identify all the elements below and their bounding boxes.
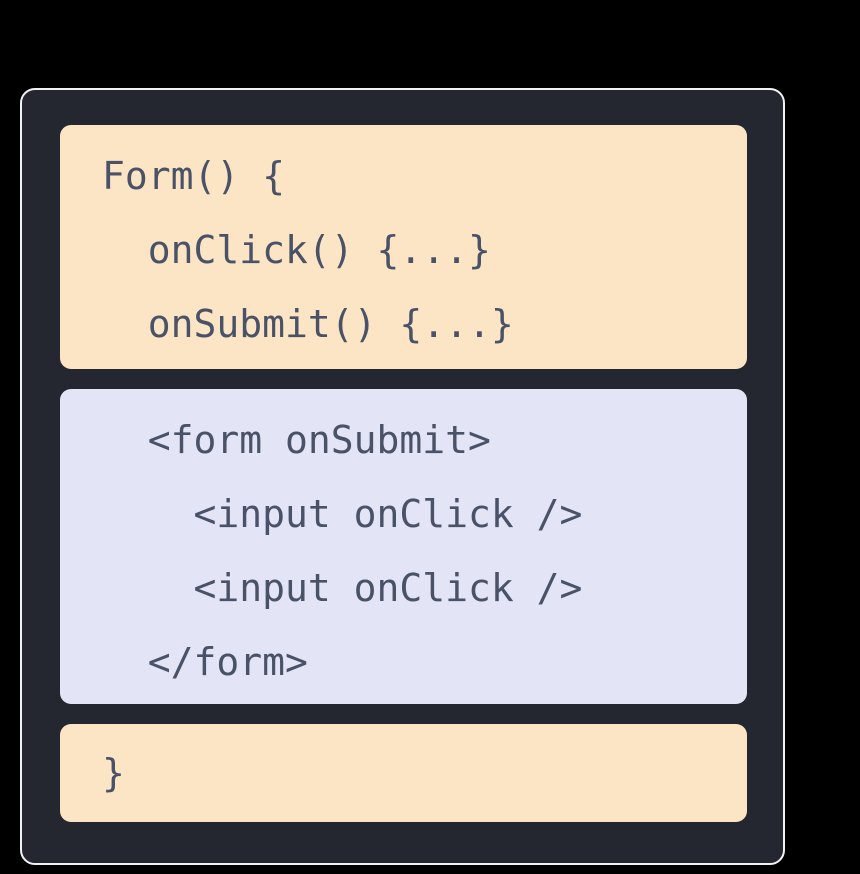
code-line: onSubmit() {...} [60, 287, 747, 361]
code-line: <input onClick /> [60, 477, 747, 551]
code-block-markup: <form onSubmit> <input onClick /> <input… [60, 389, 747, 704]
code-line: <input onClick /> [60, 551, 747, 625]
code-card: Form() { onClick() {...} onSubmit() {...… [20, 88, 785, 865]
code-lines-component-close: } [60, 724, 747, 810]
code-line: Form() { [60, 139, 747, 213]
code-line: onClick() {...} [60, 213, 747, 287]
code-line: </form> [60, 625, 747, 699]
code-block-component-open: Form() { onClick() {...} onSubmit() {...… [60, 125, 747, 369]
code-lines-markup: <form onSubmit> <input onClick /> <input… [60, 389, 747, 699]
code-lines-component-open: Form() { onClick() {...} onSubmit() {...… [60, 125, 747, 361]
diagram-canvas: Form() { onClick() {...} onSubmit() {...… [0, 0, 860, 874]
code-block-component-close: } [60, 724, 747, 822]
code-line: <form onSubmit> [60, 403, 747, 477]
code-line: } [60, 736, 747, 810]
